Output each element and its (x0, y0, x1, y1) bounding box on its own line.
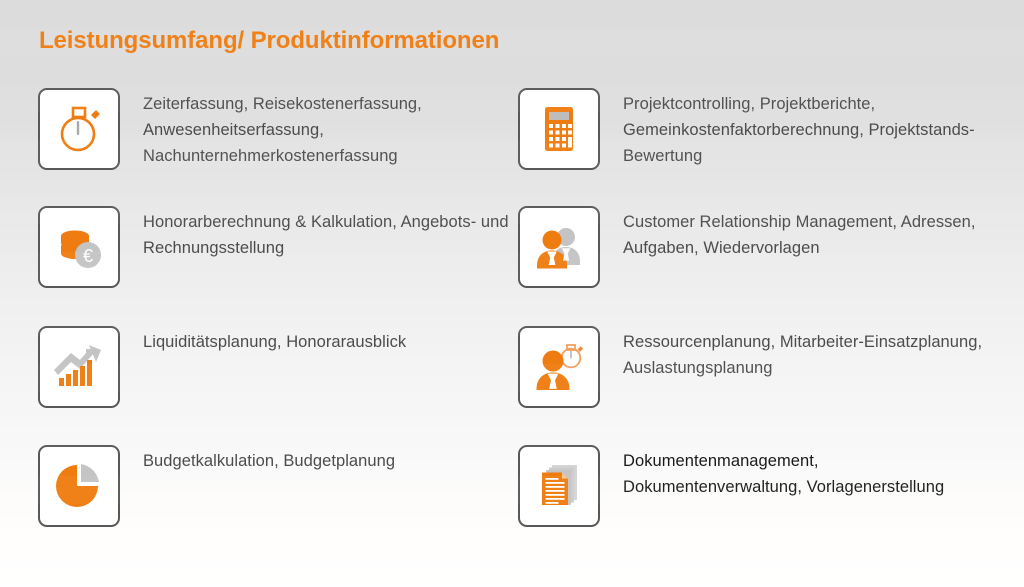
person-stopwatch-icon (533, 341, 585, 393)
pie-chart-icon (53, 460, 105, 512)
feature-row: € Honorarberechnung & Kalkulation, Angeb… (0, 206, 1024, 326)
feature-item-crm[interactable]: Customer Relationship Management, Adress… (518, 206, 998, 326)
feature-item-projektcontrolling[interactable]: Projektcontrolling, Projektberichte, Gem… (518, 88, 998, 206)
feature-item-zeiterfassung[interactable]: Zeiterfassung, Reisekostenerfassung, Anw… (38, 88, 518, 206)
icon-box (38, 445, 120, 527)
feature-item-dokumentenmanagement[interactable]: Dokumentenmanagement, Dokumentenverwaltu… (518, 445, 998, 555)
icon-box (38, 88, 120, 170)
icon-box (518, 206, 600, 288)
feature-item-ressourcenplanung[interactable]: Ressourcenplanung, Mitarbeiter-Einsatzpl… (518, 326, 998, 445)
feature-text: Projektcontrolling, Projektberichte, Gem… (623, 88, 998, 169)
feature-text: Honorarberechnung & Kalkulation, Angebot… (143, 206, 518, 261)
two-people-icon (533, 221, 585, 273)
icon-box (518, 326, 600, 408)
growth-bar-chart-icon (53, 341, 105, 393)
feature-item-honorarberechnung[interactable]: € Honorarberechnung & Kalkulation, Angeb… (38, 206, 518, 326)
feature-item-liquiditaetsplanung[interactable]: Liquiditätsplanung, Honorarausblick (38, 326, 518, 445)
feature-text: Ressourcenplanung, Mitarbeiter-Einsatzpl… (623, 326, 998, 381)
feature-text: Liquiditätsplanung, Honorarausblick (143, 326, 518, 355)
icon-box (518, 445, 600, 527)
feature-row: Liquiditätsplanung, Honorarausblick (0, 326, 1024, 445)
page-title: Leistungsumfang/ Produktinformationen (39, 27, 499, 55)
feature-text: Zeiterfassung, Reisekostenerfassung, Anw… (143, 88, 518, 169)
svg-text:€: € (83, 246, 93, 266)
feature-row: Zeiterfassung, Reisekostenerfassung, Anw… (0, 88, 1024, 206)
feature-grid: Zeiterfassung, Reisekostenerfassung, Anw… (0, 88, 1024, 555)
feature-row: Budgetkalkulation, Budgetplanung (0, 445, 1024, 555)
coins-euro-icon: € (53, 221, 105, 273)
slide-canvas: Leistungsumfang/ Produktinformationen Ze… (0, 0, 1024, 587)
icon-box: € (38, 206, 120, 288)
calculator-icon (533, 103, 585, 155)
feature-item-budgetkalkulation[interactable]: Budgetkalkulation, Budgetplanung (38, 445, 518, 555)
feature-text: Dokumentenmanagement, Dokumentenverwaltu… (623, 445, 998, 500)
icon-box (518, 88, 600, 170)
stopwatch-icon (53, 103, 105, 155)
feature-text: Customer Relationship Management, Adress… (623, 206, 998, 261)
documents-stack-icon (533, 460, 585, 512)
feature-text: Budgetkalkulation, Budgetplanung (143, 445, 518, 474)
icon-box (38, 326, 120, 408)
